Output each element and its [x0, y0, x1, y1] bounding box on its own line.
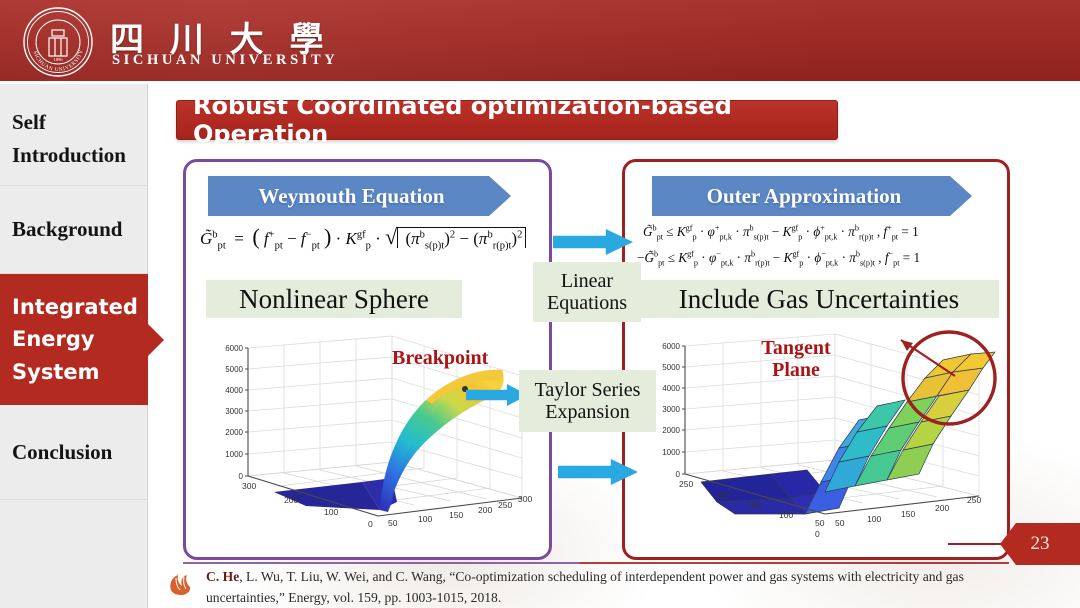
svg-text:200: 200: [478, 505, 492, 515]
weymouth-formula: G̃bpt = ( f+pt − f−pt ) · Kgfp · √ (πbs(…: [200, 224, 526, 250]
university-seal-icon: 1896 SICHUAN UNIVERSITY: [22, 6, 94, 78]
svg-text:50: 50: [835, 518, 845, 528]
svg-text:6000: 6000: [225, 344, 243, 353]
weymouth-chevron-header: Weymouth Equation: [208, 176, 511, 216]
svg-text:4000: 4000: [225, 386, 243, 395]
svg-text:0: 0: [815, 529, 820, 539]
svg-text:1896: 1896: [53, 57, 63, 62]
footer-emblem-icon: [164, 568, 198, 602]
tangent-plane-label-line1: Tangent: [761, 337, 830, 359]
svg-text:100: 100: [779, 510, 793, 520]
linear-equations-line1: Linear: [561, 270, 613, 292]
sidebar-nav: Self Introduction Background Integrated …: [0, 84, 148, 608]
sidebar-item-background[interactable]: Background: [0, 186, 148, 274]
svg-text:150: 150: [747, 500, 761, 510]
sidebar-item-label-line1: Self: [12, 106, 148, 139]
citation-divider: [183, 562, 1009, 564]
svg-text:250: 250: [679, 479, 693, 489]
page-number-rule: [948, 543, 1008, 545]
sidebar-item-label-line3: System: [12, 356, 148, 389]
svg-text:100: 100: [867, 514, 881, 524]
svg-text:250: 250: [967, 495, 981, 505]
svg-text:100: 100: [324, 507, 338, 517]
svg-text:5000: 5000: [225, 365, 243, 374]
svg-text:3000: 3000: [662, 405, 680, 414]
taylor-line1: Taylor Series: [535, 379, 641, 401]
svg-text:250: 250: [498, 500, 512, 510]
university-name-english: SICHUAN UNIVERSITY: [112, 52, 338, 69]
nonlinear-sphere-caption: Nonlinear Sphere: [206, 280, 462, 318]
sidebar-item-conclusion[interactable]: Conclusion: [0, 405, 148, 500]
svg-text:3000: 3000: [225, 407, 243, 416]
svg-text:150: 150: [449, 510, 463, 520]
svg-text:1000: 1000: [225, 450, 243, 459]
sidebar-item-label-line2: Introduction: [12, 139, 148, 172]
sidebar-item-label-line2: Energy: [12, 323, 148, 356]
weymouth-equation-panel: Weymouth Equation G̃bpt = ( f+pt − f−pt …: [183, 159, 552, 560]
taylor-series-expansion-label: Taylor Series Expansion: [519, 370, 656, 432]
linear-equations-line2: Equations: [547, 292, 627, 314]
breakpoint-label: Breakpoint: [392, 348, 488, 370]
svg-text:50: 50: [815, 518, 825, 528]
citation-authors: C. He: [206, 569, 239, 584]
svg-text:200: 200: [284, 495, 298, 505]
sidebar-item-self-introduction[interactable]: Self Introduction: [0, 92, 148, 186]
svg-text:300: 300: [242, 481, 256, 491]
svg-text:50: 50: [388, 518, 398, 528]
outer-approximation-formula-1: G̃bpt ≤ Kgfp · φ+pt,k · πbs(p)t − Kgfp ·…: [643, 224, 919, 240]
svg-text:4000: 4000: [662, 384, 680, 393]
svg-text:200: 200: [715, 490, 729, 500]
slide-title: Robust Coordinated optimization-based Op…: [176, 100, 838, 140]
svg-text:2000: 2000: [662, 426, 680, 435]
sidebar-item-label: Conclusion: [12, 436, 148, 469]
svg-text:0: 0: [239, 472, 244, 481]
sidebar-item-label: Background: [12, 213, 148, 246]
svg-text:5000: 5000: [662, 363, 680, 372]
page-number-badge: 23: [1000, 523, 1080, 565]
page-header: 1896 SICHUAN UNIVERSITY 四 川 大 學 SICHUAN …: [0, 0, 1080, 84]
citation-text: C. He, L. Wu, T. Liu, W. Wei, and C. Wan…: [206, 566, 1006, 608]
svg-text:6000: 6000: [662, 342, 680, 351]
tangent-plane-label-line2: Plane: [772, 359, 820, 381]
outer-approximation-formula-2: −G̃bpt ≤ Kgfp · φ−pt,k · πbr(p)t − Kgfp …: [637, 250, 920, 266]
svg-text:150: 150: [901, 509, 915, 519]
svg-text:1000: 1000: [662, 448, 680, 457]
svg-text:0: 0: [368, 519, 373, 529]
svg-text:300: 300: [518, 494, 532, 504]
linear-equations-label: Linear Equations: [533, 262, 641, 322]
svg-text:2000: 2000: [225, 428, 243, 437]
svg-text:200: 200: [935, 503, 949, 513]
citation-rest: , L. Wu, T. Liu, W. Wei, and C. Wang, “C…: [206, 569, 964, 605]
tangent-plane-label: Tangent Plane: [748, 338, 844, 381]
sidebar-item-label-line1: Integrated: [12, 291, 148, 324]
sidebar-item-integrated-energy-system[interactable]: Integrated Energy System: [0, 274, 148, 405]
include-gas-uncertainties-caption: Include Gas Uncertainties: [639, 280, 999, 318]
outer-approximation-chevron-header: Outer Approximation: [652, 176, 972, 216]
svg-text:0: 0: [676, 470, 681, 479]
taylor-line2: Expansion: [545, 401, 629, 423]
svg-text:100: 100: [418, 514, 432, 524]
